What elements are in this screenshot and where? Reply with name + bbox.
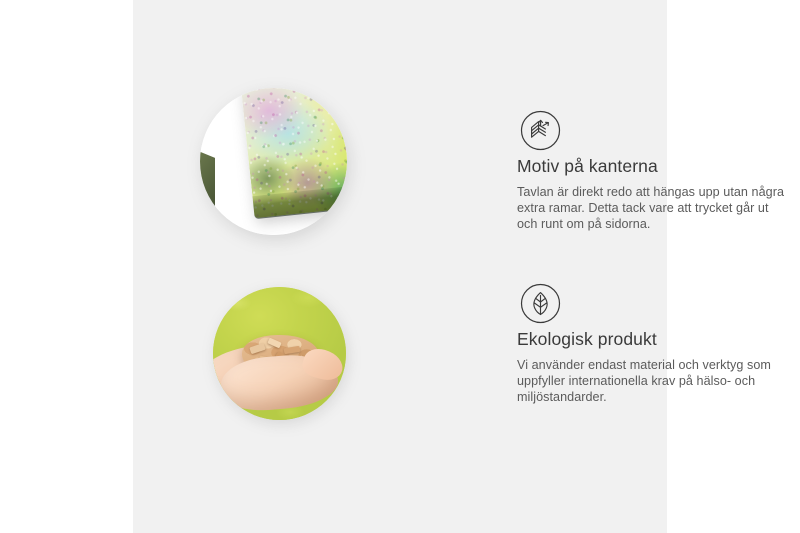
- feature-text-motiv-pa-kanterna: Motiv på kanterna Tavlan är direkt redo …: [517, 156, 787, 233]
- canvas-photo-backdrop: [200, 88, 347, 235]
- wood-chip: [249, 343, 266, 354]
- canvas-print-corner-photo: [200, 88, 347, 235]
- grass-background: [213, 287, 346, 420]
- feature-title: Ekologisk produkt: [517, 329, 787, 350]
- canvas-wrap-edge-icon: [520, 110, 561, 151]
- feature-text-ekologisk-produkt: Ekologisk produkt Vi använder endast mat…: [517, 329, 787, 406]
- content-panel: Motiv på kanterna Tavlan är direkt redo …: [133, 0, 667, 533]
- feature-title: Motiv på kanterna: [517, 156, 787, 177]
- feature-description: Tavlan är direkt redo att hängas upp uta…: [517, 184, 787, 233]
- leaf-icon: [520, 283, 561, 324]
- product-feature-banner: Motiv på kanterna Tavlan är direkt redo …: [0, 0, 800, 533]
- feature-description: Vi använder endast material och verktyg …: [517, 357, 787, 406]
- wood-chip: [283, 346, 300, 355]
- canvas-print-face: [240, 88, 347, 219]
- canvas-wrapped-side-edge: [200, 150, 215, 234]
- wood-chip: [268, 337, 282, 348]
- hands-holding-wood-chips-photo: [213, 287, 346, 420]
